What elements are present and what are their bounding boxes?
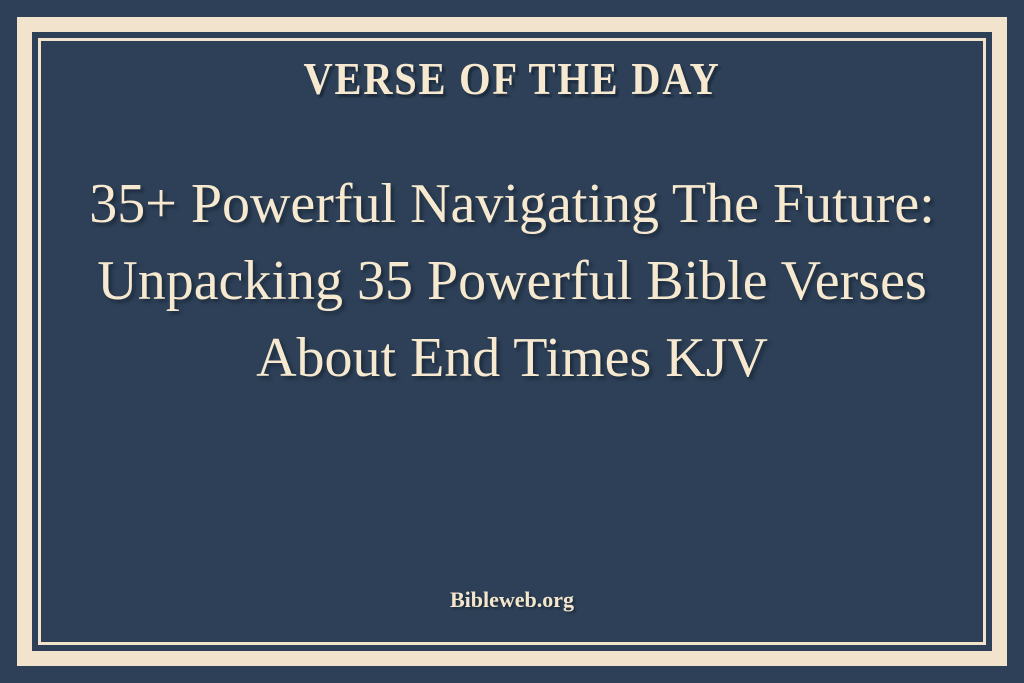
poster-outer-border: VERSE OF THE DAY 35+ Powerful Navigating…	[17, 17, 1007, 666]
verse-of-the-day-poster: VERSE OF THE DAY 35+ Powerful Navigating…	[0, 0, 1024, 683]
poster-inner-border: VERSE OF THE DAY 35+ Powerful Navigating…	[38, 38, 986, 645]
poster-source-attribution: Bibleweb.org	[41, 588, 983, 612]
poster-headline: 35+ Powerful Navigating The Future: Unpa…	[41, 166, 983, 397]
poster-eyebrow-title: VERSE OF THE DAY	[98, 55, 927, 103]
poster-content: VERSE OF THE DAY 35+ Powerful Navigating…	[41, 41, 983, 642]
